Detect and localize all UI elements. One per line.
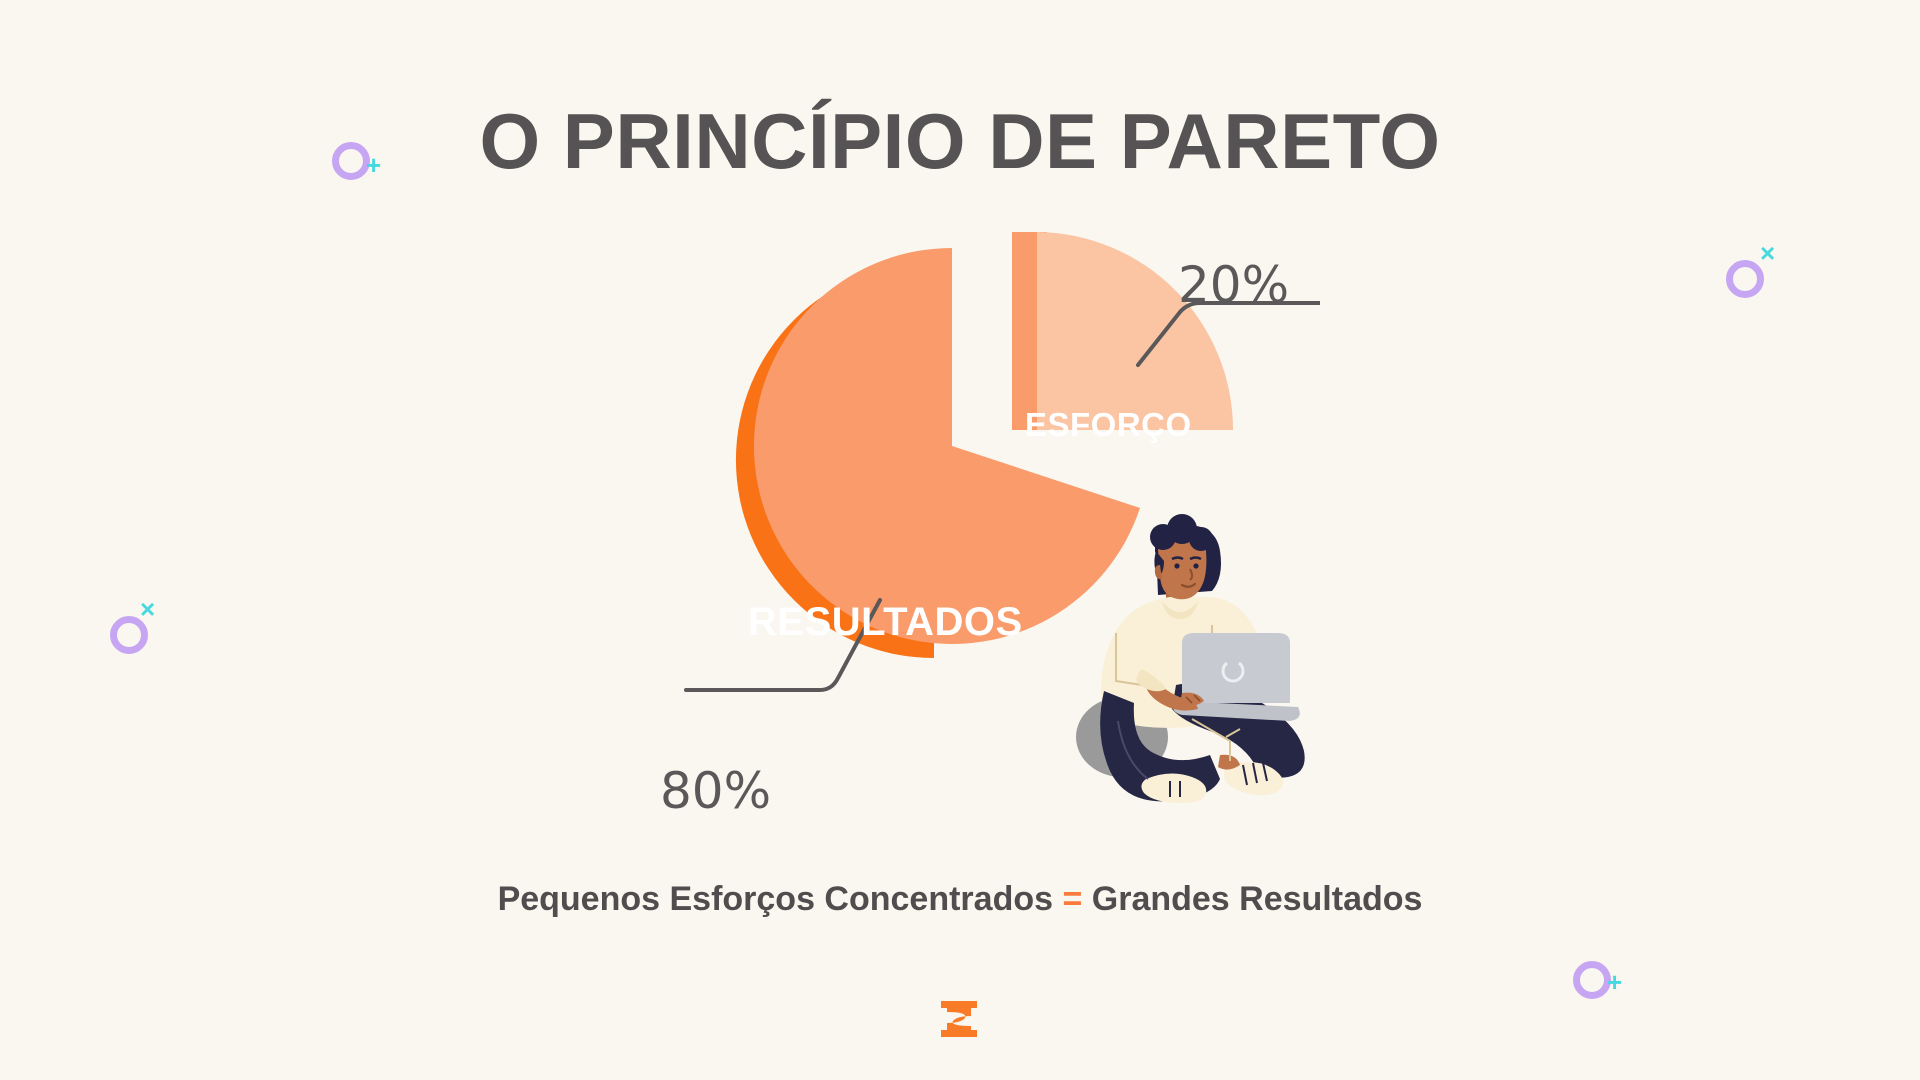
decoration-left: × <box>110 596 180 646</box>
cross-icon: × <box>1760 240 1775 266</box>
percent-label-20: 20% <box>1178 256 1289 314</box>
plus-icon: + <box>366 152 381 178</box>
illustration-svg <box>1030 505 1350 815</box>
eye-right <box>1193 563 1198 568</box>
person-with-laptop-illustration <box>1030 505 1350 815</box>
laptop-lid <box>1182 633 1290 703</box>
logo-top-bar <box>941 1001 977 1008</box>
subtitle-equals-sign: = <box>1062 880 1082 918</box>
hourglass-logo-icon <box>935 995 983 1043</box>
ring-icon <box>332 142 370 180</box>
ring-icon <box>1573 961 1611 999</box>
cross-icon: × <box>140 596 155 622</box>
eye-left <box>1174 563 1179 568</box>
decoration-top-left: + <box>332 138 402 178</box>
infographic-canvas: O PRINCÍPIO DE PARETO + × × + <box>0 0 1920 1080</box>
page-title: O PRINCÍPIO DE PARETO <box>0 96 1920 187</box>
logo-s-curve <box>947 1008 971 1030</box>
subtitle-right-text: Grandes Resultados <box>1082 880 1422 918</box>
decoration-top-right: × <box>1726 240 1796 290</box>
subtitle-left-text: Pequenos Esforços Concentrados <box>498 880 1063 918</box>
subtitle: Pequenos Esforços Concentrados = Grandes… <box>0 880 1920 919</box>
hourglass-logo <box>935 995 983 1043</box>
ring-icon <box>1726 260 1764 298</box>
percent-label-80: 80% <box>660 762 771 820</box>
decoration-bottom-right: + <box>1573 957 1643 997</box>
logo-bottom-bar <box>941 1030 977 1037</box>
plus-icon: + <box>1607 969 1622 995</box>
